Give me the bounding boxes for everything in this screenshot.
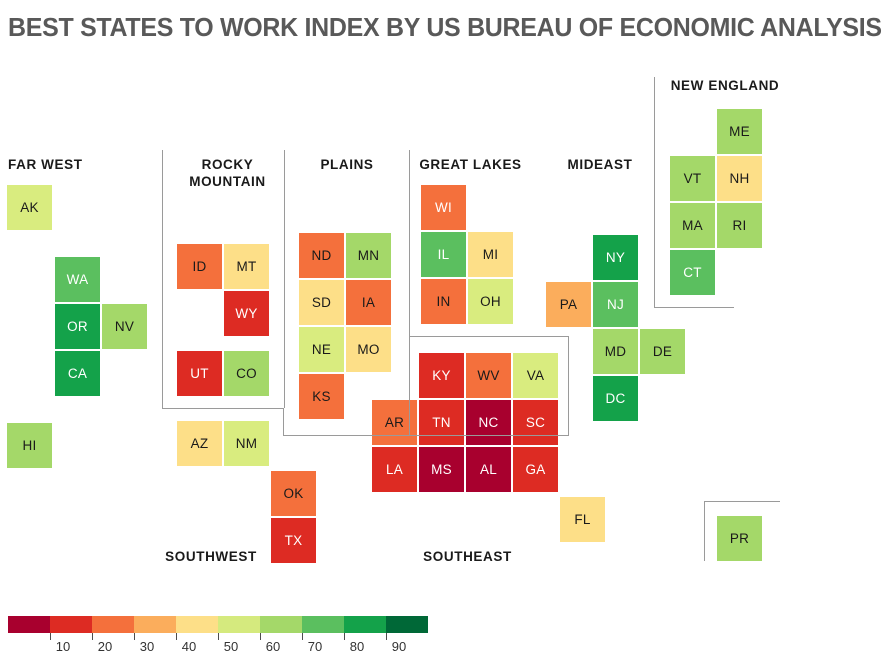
- legend-band: [302, 616, 344, 633]
- state-tile-label: KY: [432, 368, 451, 383]
- legend-tick-label: 50: [224, 639, 238, 654]
- state-tile-ca[interactable]: CA: [54, 350, 101, 397]
- state-tile-sc[interactable]: SC: [512, 399, 559, 446]
- legend-tickmark: [218, 633, 219, 640]
- state-tile-label: VT: [684, 171, 702, 186]
- state-tile-label: AL: [480, 462, 497, 477]
- region-separator: [409, 150, 410, 336]
- legend-tickmark: [344, 633, 345, 640]
- state-tile-nh[interactable]: NH: [716, 155, 763, 202]
- state-tile-label: CO: [236, 366, 257, 381]
- state-tile-label: IL: [438, 247, 450, 262]
- state-tile-ma[interactable]: MA: [669, 202, 716, 249]
- state-tile-ny[interactable]: NY: [592, 234, 639, 281]
- legend-tick-label: 90: [392, 639, 406, 654]
- chart-canvas: BEST STATES TO WORK INDEX BY US BUREAU O…: [0, 0, 887, 660]
- state-tile-al[interactable]: AL: [465, 446, 512, 493]
- state-tile-label: ND: [311, 248, 331, 263]
- legend-tick-label: 60: [266, 639, 280, 654]
- state-tile-label: IA: [362, 295, 375, 310]
- state-tile-ia[interactable]: IA: [345, 279, 392, 326]
- state-tile-la[interactable]: LA: [371, 446, 418, 493]
- region-separator: [704, 501, 780, 502]
- state-tile-label: KS: [312, 389, 331, 404]
- legend-band: [8, 616, 50, 633]
- state-tile-nj[interactable]: NJ: [592, 281, 639, 328]
- region-separator: [283, 435, 410, 436]
- state-tile-co[interactable]: CO: [223, 350, 270, 397]
- state-tile-label: DC: [605, 391, 625, 406]
- state-tile-ga[interactable]: GA: [512, 446, 559, 493]
- state-tile-label: HI: [22, 438, 36, 453]
- state-tile-tn[interactable]: TN: [418, 399, 465, 446]
- region-separator: [654, 77, 655, 308]
- region-label-mideast: MIDEAST: [545, 156, 655, 173]
- state-tile-label: RI: [732, 218, 746, 233]
- state-tile-ct[interactable]: CT: [669, 249, 716, 296]
- state-tile-ks[interactable]: KS: [298, 373, 345, 420]
- state-tile-label: FL: [574, 512, 590, 527]
- state-tile-wv[interactable]: WV: [465, 352, 512, 399]
- legend-tick-label: 20: [98, 639, 112, 654]
- state-tile-label: MA: [682, 218, 703, 233]
- state-tile-wy[interactable]: WY: [223, 290, 270, 337]
- state-tile-label: WI: [435, 200, 452, 215]
- region-separator: [162, 408, 284, 409]
- state-tile-ak[interactable]: AK: [6, 184, 53, 231]
- state-tile-label: CT: [683, 265, 702, 280]
- state-tile-ok[interactable]: OK: [270, 470, 317, 517]
- region-label-far-west: FAR WEST: [8, 156, 158, 173]
- state-tile-mt[interactable]: MT: [223, 243, 270, 290]
- state-tile-nc[interactable]: NC: [465, 399, 512, 446]
- state-tile-label: NY: [606, 250, 625, 265]
- state-tile-me[interactable]: ME: [716, 108, 763, 155]
- region-label-plains: PLAINS: [292, 156, 402, 173]
- state-tile-label: IN: [436, 294, 450, 309]
- legend-band: [92, 616, 134, 633]
- state-tile-label: PR: [730, 531, 749, 546]
- state-tile-va[interactable]: VA: [512, 352, 559, 399]
- legend-tickmark: [176, 633, 177, 640]
- region-separator: [283, 408, 284, 435]
- state-tile-oh[interactable]: OH: [467, 278, 514, 325]
- state-tile-ms[interactable]: MS: [418, 446, 465, 493]
- state-tile-ky[interactable]: KY: [418, 352, 465, 399]
- legend-tick-label: 80: [350, 639, 364, 654]
- legend-tick-label: 40: [182, 639, 196, 654]
- region-separator: [409, 336, 569, 337]
- region-label-southeast: SOUTHEAST: [400, 548, 535, 565]
- state-tile-ri[interactable]: RI: [716, 202, 763, 249]
- state-tile-label: NV: [115, 319, 134, 334]
- state-tile-label: CA: [68, 366, 87, 381]
- state-tile-label: OR: [67, 319, 88, 334]
- state-tile-in[interactable]: IN: [420, 278, 467, 325]
- state-tile-label: MD: [605, 344, 627, 359]
- state-tile-nv[interactable]: NV: [101, 303, 148, 350]
- region-separator: [568, 336, 569, 435]
- state-tile-label: PA: [560, 297, 578, 312]
- state-tile-ar[interactable]: AR: [371, 399, 418, 446]
- legend-tick-axis: 102030405060708090: [8, 633, 448, 655]
- state-tile-label: DE: [653, 344, 672, 359]
- legend-band: [386, 616, 428, 633]
- region-label-rocky-mountain: ROCKY MOUNTAIN: [170, 156, 285, 190]
- state-tile-label: MN: [358, 248, 380, 263]
- state-tile-dc[interactable]: DC: [592, 375, 639, 422]
- state-tile-label: MT: [236, 259, 256, 274]
- state-tile-label: ID: [192, 259, 206, 274]
- state-tile-label: NM: [236, 436, 258, 451]
- legend-tickmark: [134, 633, 135, 640]
- state-tile-label: TN: [432, 415, 451, 430]
- state-tile-nd[interactable]: ND: [298, 232, 345, 279]
- state-tile-label: MI: [483, 247, 499, 262]
- state-tile-vt[interactable]: VT: [669, 155, 716, 202]
- state-tile-de[interactable]: DE: [639, 328, 686, 375]
- legend-band: [344, 616, 386, 633]
- region-label-new-england: NEW ENGLAND: [660, 77, 790, 94]
- legend-tickmark: [50, 633, 51, 640]
- state-tile-nm[interactable]: NM: [223, 420, 270, 467]
- legend-tick-label: 10: [56, 639, 70, 654]
- legend-colorbar: [8, 616, 428, 633]
- region-label-southwest: SOUTHWEST: [136, 548, 286, 565]
- legend-band: [260, 616, 302, 633]
- state-tile-label: AR: [385, 415, 404, 430]
- state-tile-fl[interactable]: FL: [559, 496, 606, 543]
- region-separator: [409, 336, 410, 435]
- state-tile-label: TX: [285, 533, 303, 548]
- legend-band: [50, 616, 92, 633]
- region-separator: [162, 150, 163, 408]
- state-tile-label: WV: [477, 368, 499, 383]
- state-tile-label: LA: [386, 462, 403, 477]
- state-tile-label: OH: [480, 294, 501, 309]
- legend-tickmark: [260, 633, 261, 640]
- region-separator: [704, 501, 705, 561]
- state-tile-label: VA: [527, 368, 545, 383]
- state-tile-label: OK: [283, 486, 303, 501]
- state-tile-id[interactable]: ID: [176, 243, 223, 290]
- legend-tickmark: [386, 633, 387, 640]
- region-separator: [410, 435, 569, 436]
- state-tile-label: MS: [431, 462, 452, 477]
- state-tile-label: GA: [525, 462, 545, 477]
- state-tile-label: SD: [312, 295, 331, 310]
- state-tile-ut[interactable]: UT: [176, 350, 223, 397]
- state-tile-md[interactable]: MD: [592, 328, 639, 375]
- state-tile-label: WY: [235, 306, 257, 321]
- state-tile-label: NE: [312, 342, 331, 357]
- region-separator: [654, 307, 734, 308]
- state-tile-wi[interactable]: WI: [420, 184, 467, 231]
- state-tile-or[interactable]: OR: [54, 303, 101, 350]
- legend-tickmark: [302, 633, 303, 640]
- legend-tickmark: [92, 633, 93, 640]
- state-tile-label: NH: [729, 171, 749, 186]
- state-tile-label: AZ: [191, 436, 209, 451]
- state-tile-az[interactable]: AZ: [176, 420, 223, 467]
- state-tile-pr[interactable]: PR: [716, 515, 763, 562]
- state-tile-label: UT: [190, 366, 209, 381]
- region-label-great-lakes: GREAT LAKES: [408, 156, 533, 173]
- state-tile-mi[interactable]: MI: [467, 231, 514, 278]
- legend-band: [176, 616, 218, 633]
- legend-band: [134, 616, 176, 633]
- state-tile-mn[interactable]: MN: [345, 232, 392, 279]
- state-tile-hi[interactable]: HI: [6, 422, 53, 469]
- page-title: BEST STATES TO WORK INDEX BY US BUREAU O…: [8, 12, 887, 43]
- state-tile-label: SC: [526, 415, 545, 430]
- legend-tick-label: 70: [308, 639, 322, 654]
- state-tile-label: NJ: [607, 297, 624, 312]
- state-tile-wa[interactable]: WA: [54, 256, 101, 303]
- state-tile-ne[interactable]: NE: [298, 326, 345, 373]
- state-tile-label: MO: [357, 342, 379, 357]
- state-tile-label: AK: [20, 200, 39, 215]
- color-legend: 102030405060708090: [8, 616, 448, 655]
- state-tile-label: WA: [67, 272, 89, 287]
- state-tile-sd[interactable]: SD: [298, 279, 345, 326]
- state-tile-label: NC: [478, 415, 498, 430]
- state-tile-il[interactable]: IL: [420, 231, 467, 278]
- state-tile-pa[interactable]: PA: [545, 281, 592, 328]
- state-tile-label: ME: [729, 124, 750, 139]
- legend-band: [218, 616, 260, 633]
- legend-tick-label: 30: [140, 639, 154, 654]
- state-tile-mo[interactable]: MO: [345, 326, 392, 373]
